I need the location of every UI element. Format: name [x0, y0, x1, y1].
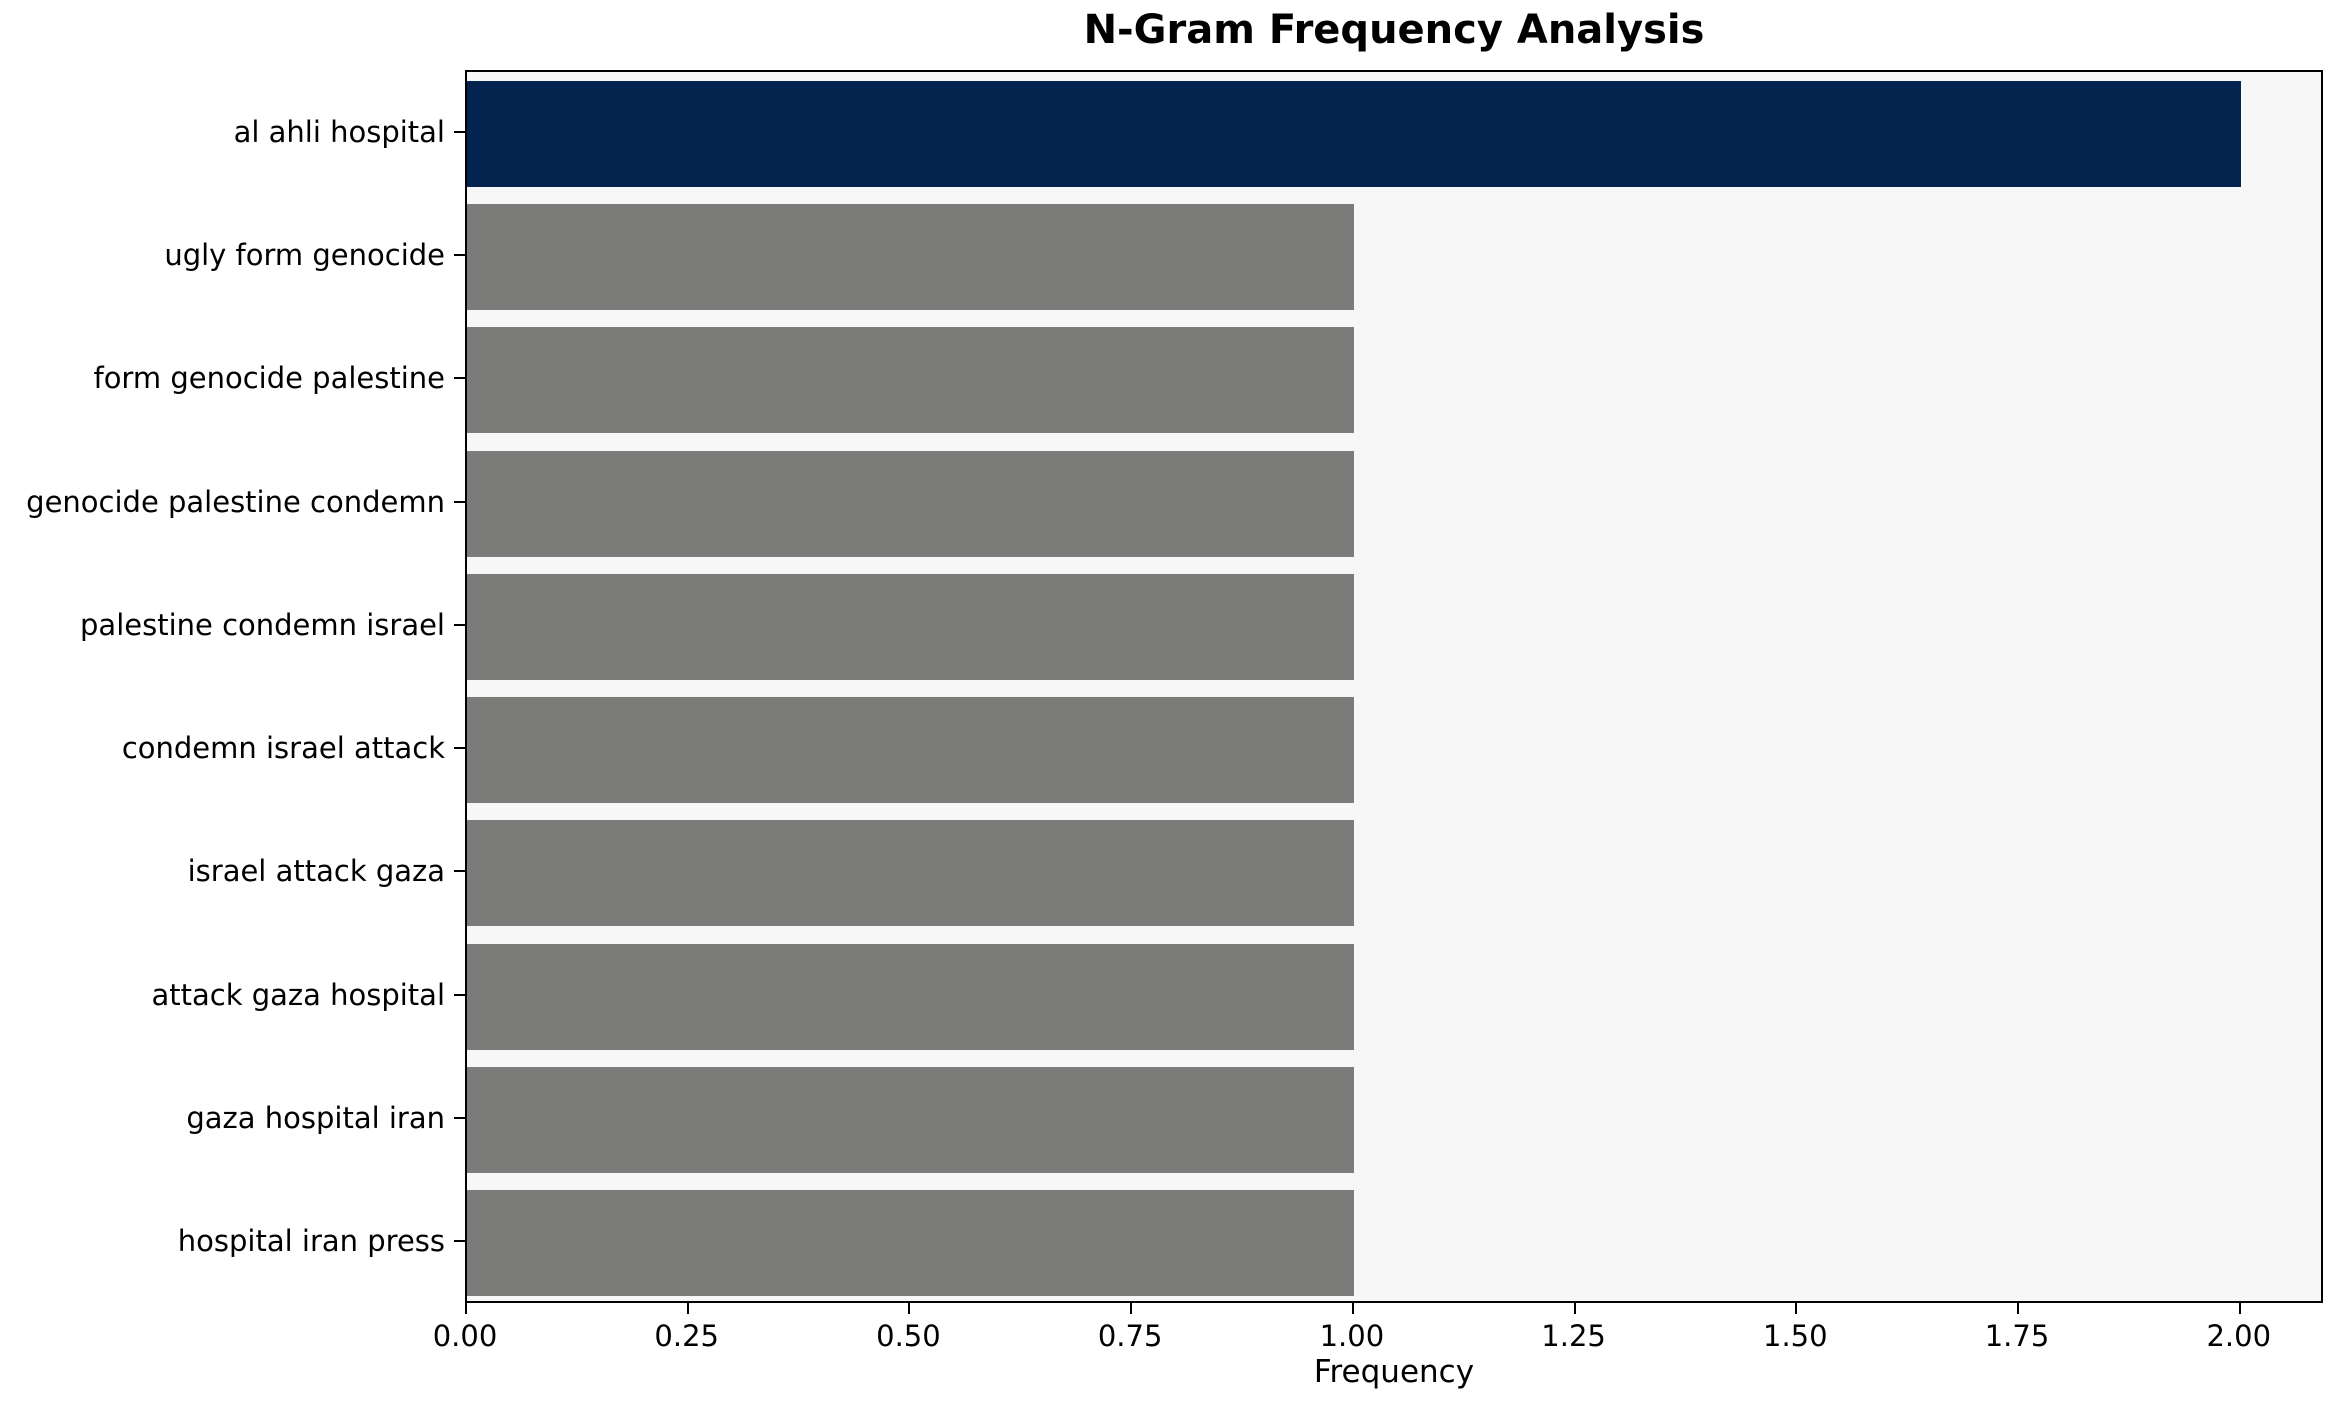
bar: [467, 944, 1354, 1050]
bar: [467, 820, 1354, 926]
x-tick-mark: [2239, 1303, 2241, 1314]
y-tick-label: condemn israel attack: [122, 731, 445, 765]
bar: [467, 451, 1354, 557]
x-tick-label: 0.00: [433, 1319, 498, 1353]
y-tick-label: hospital iran press: [178, 1224, 445, 1258]
x-tick-mark: [687, 1303, 689, 1314]
y-tick-mark: [454, 870, 465, 872]
bar: [467, 327, 1354, 433]
y-tick-mark: [454, 377, 465, 379]
bar: [467, 1067, 1354, 1173]
x-tick-mark: [1574, 1303, 1576, 1314]
y-tick-label: israel attack gaza: [188, 854, 445, 888]
y-tick-mark: [454, 1240, 465, 1242]
x-tick-mark: [1352, 1303, 1354, 1314]
x-tick-label: 1.25: [1541, 1319, 1606, 1353]
x-tick-label: 0.50: [876, 1319, 941, 1353]
bar: [467, 574, 1354, 680]
chart-figure: N-Gram Frequency Analysis al ahli hospit…: [0, 0, 2344, 1414]
x-tick-label: 0.25: [654, 1319, 719, 1353]
x-tick-mark: [1795, 1303, 1797, 1314]
y-tick-mark: [454, 624, 465, 626]
y-tick-label: palestine condemn israel: [80, 608, 445, 642]
x-tick-mark: [908, 1303, 910, 1314]
y-tick-mark: [454, 254, 465, 256]
bar: [467, 697, 1354, 803]
plot-area: [465, 70, 2323, 1303]
y-tick-label: al ahli hospital: [234, 115, 445, 149]
bar: [467, 81, 2241, 187]
x-axis-title: Frequency: [465, 1354, 2323, 1390]
x-tick-mark: [1130, 1303, 1132, 1314]
y-tick-label: gaza hospital iran: [186, 1101, 445, 1135]
y-tick-mark: [454, 747, 465, 749]
x-tick-mark: [465, 1303, 467, 1314]
y-axis-tick-labels: al ahli hospitalugly form genocideform g…: [0, 70, 465, 1303]
x-tick-label: 1.00: [1320, 1319, 1385, 1353]
chart-title: N-Gram Frequency Analysis: [465, 2, 2323, 58]
bars-layer: [467, 72, 2321, 1301]
y-tick-label: form genocide palestine: [93, 361, 445, 395]
bar: [467, 1190, 1354, 1296]
x-tick-label: 0.75: [1098, 1319, 1163, 1353]
y-tick-label: attack gaza hospital: [151, 978, 445, 1012]
x-tick-label: 2.00: [2206, 1319, 2271, 1353]
x-tick-mark: [2017, 1303, 2019, 1314]
y-tick-mark: [454, 501, 465, 503]
y-tick-label: ugly form genocide: [164, 238, 445, 272]
y-tick-label: genocide palestine condemn: [26, 485, 445, 519]
y-tick-mark: [454, 1117, 465, 1119]
bar: [467, 204, 1354, 310]
y-tick-mark: [454, 994, 465, 996]
y-tick-mark: [454, 131, 465, 133]
x-tick-label: 1.50: [1763, 1319, 1828, 1353]
x-tick-label: 1.75: [1985, 1319, 2050, 1353]
